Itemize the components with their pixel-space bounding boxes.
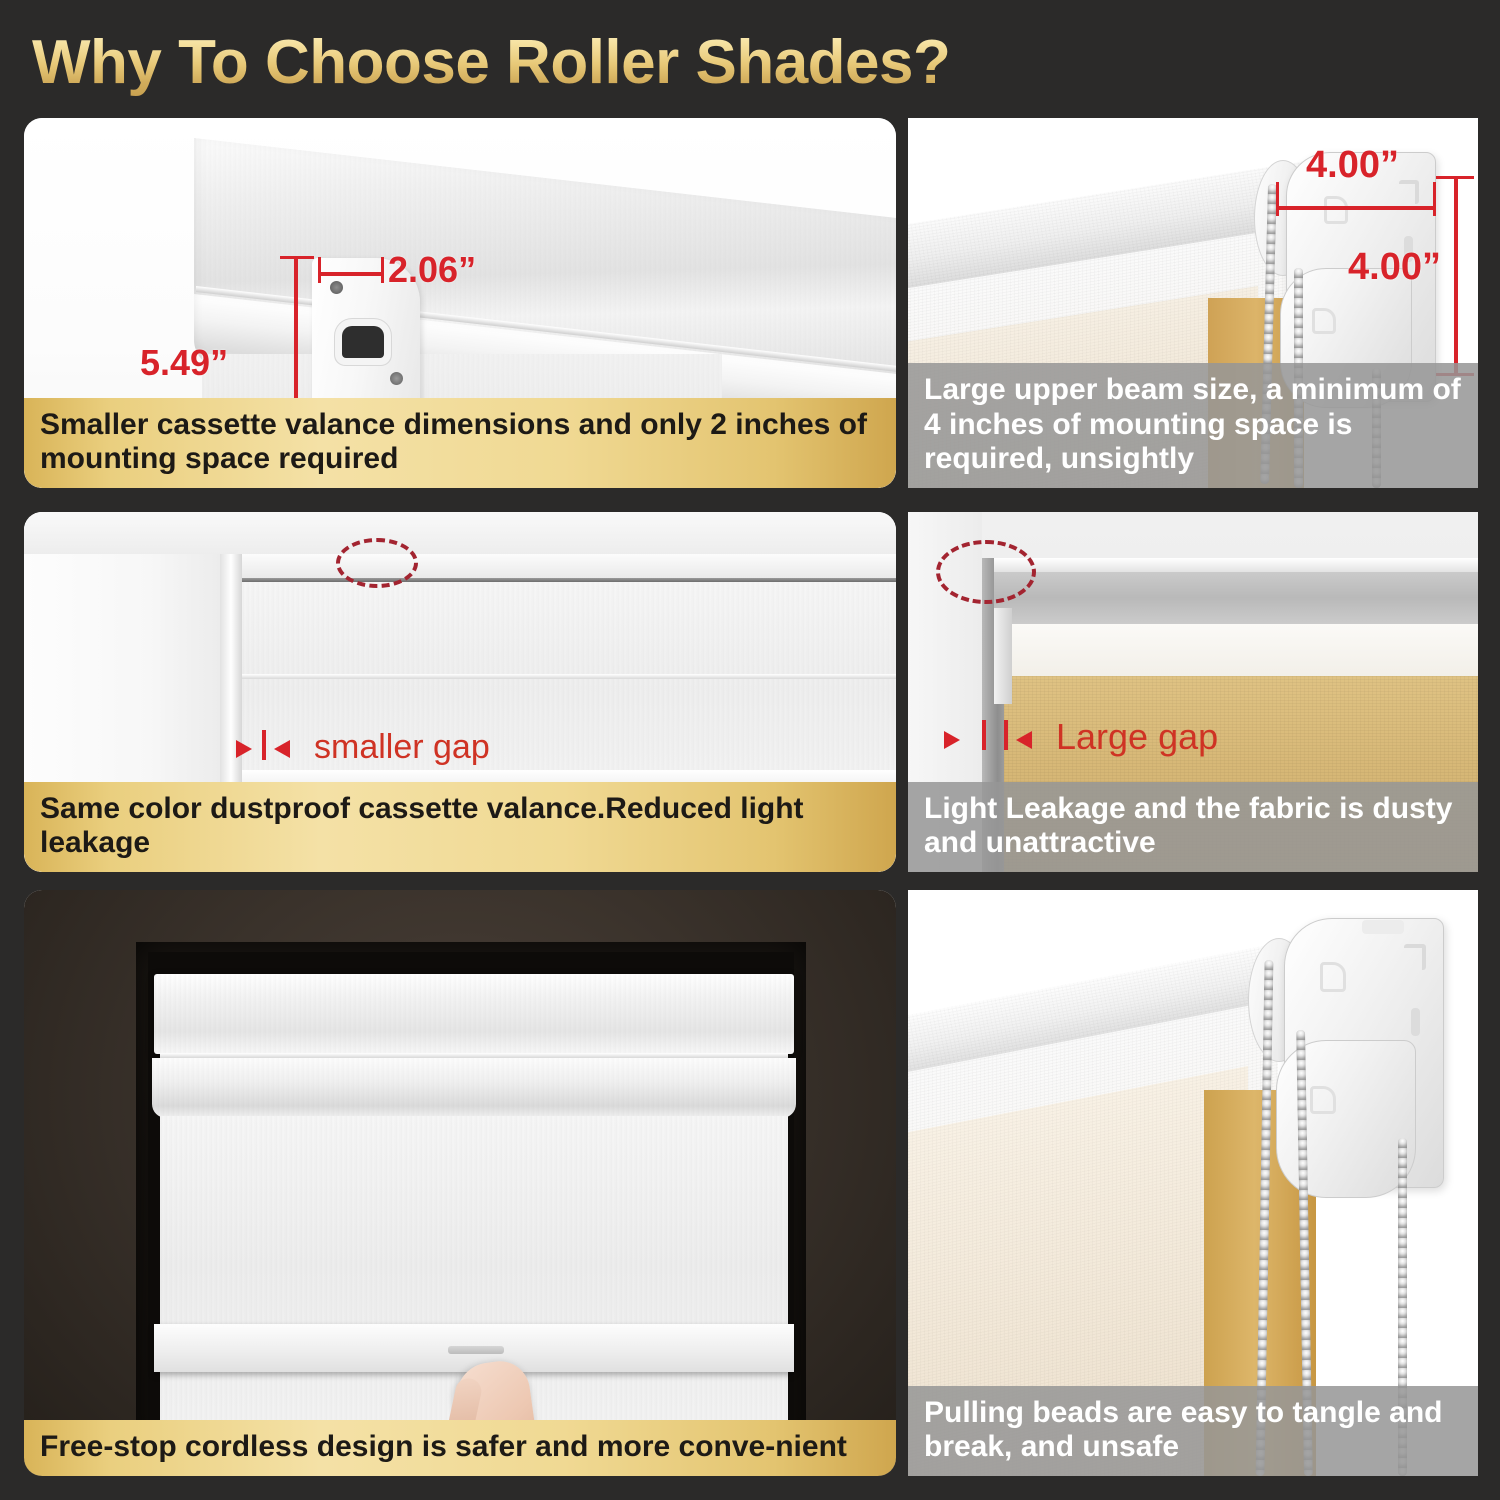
bracket-slot-upper-icon	[1404, 944, 1426, 970]
bracket-slot-mid-icon	[1411, 1008, 1420, 1036]
top-roller-bar-highlight	[994, 558, 1478, 572]
beam-height-cap-top	[1436, 176, 1474, 179]
page-title: Why To Choose Roller Shades?	[32, 24, 1132, 102]
bracket-slot-upper-icon	[1399, 180, 1419, 204]
large-gap-label: Large gap	[1056, 716, 1218, 758]
panel-cordless-free-stop: Free-stop cordless design is safer and m…	[24, 890, 896, 1476]
smaller-gap-label: smaller gap	[314, 728, 490, 767]
window-frame-top	[24, 512, 896, 554]
panel-caption-large-upper-beam: Large upper beam size, a minimum of 4 in…	[908, 363, 1478, 488]
panel-cassette-dimensions: 2.06” 5.49” Smaller cassette valance dim…	[24, 118, 896, 488]
gap-marker-bar	[262, 730, 266, 760]
cap-screw-top-icon	[330, 281, 343, 294]
dim-width-tick-right	[381, 257, 384, 283]
dim-width-label: 2.06”	[388, 249, 476, 291]
gap-marker-bar-left	[982, 720, 986, 750]
gap-highlight-ellipse	[336, 538, 418, 588]
fabric-fold-line	[242, 674, 896, 679]
bracket-logo-lower-icon	[1310, 1086, 1336, 1114]
panel-caption-light-leakage: Light Leakage and the fabric is dusty an…	[908, 782, 1478, 872]
bracket-logo-upper-icon	[1324, 196, 1348, 224]
bottom-rail-grip-icon	[448, 1346, 504, 1354]
panel-pulling-beads: Pulling beads are easy to tangle and bre…	[908, 890, 1478, 1476]
panel-large-upper-beam: 4.00” 4.00” Large upper beam size, a min…	[908, 118, 1478, 488]
gap-marker-bar-right	[1004, 720, 1008, 750]
gap-arrow-right-icon	[944, 731, 960, 749]
panel-light-leakage: Large gap Light Leakage and the fabric i…	[908, 512, 1478, 872]
beam-width-tick-left	[1276, 182, 1279, 216]
gap-arrow-left-icon	[1016, 731, 1032, 749]
panel-caption-dustproof-cassette: Same color dustproof cassette valance.Re…	[24, 782, 896, 872]
dim-width-tick-left	[318, 257, 321, 283]
beam-width-label: 4.00”	[1306, 144, 1399, 187]
room-window-photo	[24, 890, 896, 1476]
cap-screw-mid-icon	[390, 372, 403, 385]
panel-caption-cassette-dimensions: Smaller cassette valance dimensions and …	[24, 398, 896, 488]
panel-caption-cordless-free-stop: Free-stop cordless design is safer and m…	[24, 1420, 896, 1476]
bracket-tab-top-icon	[1362, 920, 1404, 934]
dim-height-cap-top	[280, 256, 314, 259]
gap-arrow-left-icon	[274, 740, 290, 758]
cassette-head-texture	[154, 974, 794, 1054]
beam-width-tick-right	[1433, 182, 1436, 216]
beam-height-line	[1454, 176, 1458, 376]
dim-height-label: 5.49”	[140, 342, 228, 384]
cassette-lip-texture	[152, 1058, 796, 1118]
panel-dustproof-cassette: smaller gap Same color dustproof cassett…	[24, 512, 896, 872]
bracket-logo-lower-icon	[1312, 308, 1336, 334]
bracket-logo-upper-icon	[1320, 962, 1346, 992]
beam-width-line	[1276, 206, 1436, 210]
infographic-page: Why To Choose Roller Shades?	[0, 0, 1500, 1500]
beam-height-label: 4.00”	[1348, 246, 1441, 289]
panel-caption-pulling-beads: Pulling beads are easy to tangle and bre…	[908, 1386, 1478, 1476]
valance-edge-piece	[994, 608, 1012, 704]
cap-slot-icon	[342, 326, 384, 358]
gap-highlight-ellipse	[936, 540, 1036, 604]
fabric-band-white	[1004, 624, 1478, 678]
dim-width-line	[318, 272, 384, 276]
gap-arrow-right-icon	[236, 740, 252, 758]
